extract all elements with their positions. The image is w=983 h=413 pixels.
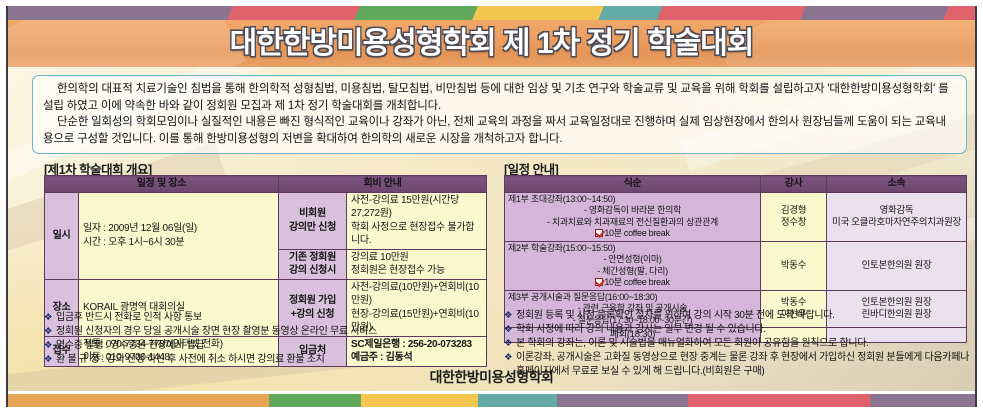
session-1-affiliation-1: 영화감독 bbox=[831, 205, 962, 217]
color-bar-segment bbox=[557, 394, 688, 407]
note-text: 환 불 규 정 : 강의 신청 하신 후 사전에 취소 하시면 강의료 환불 조… bbox=[56, 354, 325, 365]
schedule-col-header-program: 식순 bbox=[505, 176, 761, 193]
color-bar-segment bbox=[8, 394, 269, 407]
session-1-line-2: - 치과치료와 치과재료의 전신질환과의 상관관계 bbox=[508, 217, 757, 229]
diamond-bullet-icon: ❖ bbox=[44, 325, 52, 339]
schedule-col-header-affiliation: 소속 bbox=[827, 176, 967, 193]
table-row: 제1부 초대강좌(13:00~14:50) - 영화감독이 바라본 한의학 - … bbox=[505, 192, 967, 241]
checkbox-icon bbox=[595, 229, 603, 237]
session-1-speakers: 김경형 정수창 bbox=[761, 192, 827, 241]
color-bar-segment bbox=[354, 6, 485, 20]
note-text: 본 학회의 강좌는, 이론 및 시술법을 매뉴얼화하여 모든 회원이 공유함을 … bbox=[516, 338, 869, 349]
session-1-program: 제1부 초대강좌(13:00~14:50) - 영화감독이 바라본 한의학 - … bbox=[505, 192, 761, 241]
fee-label-existing-member: 기존 정회원 강의 신청시 bbox=[279, 249, 347, 279]
table-row: 제2부 학술강좌(15:00~15:50) - 안면성형(이마) - 체간성형(… bbox=[505, 241, 967, 290]
schedule-col-header-speaker: 강사 bbox=[761, 176, 827, 193]
color-bar-segment bbox=[269, 394, 360, 407]
session-2-break: 10분 coffee break bbox=[508, 277, 757, 289]
note-text: 정회원 등록 및 사전 등록확인 절차를 위하여 강의 시작 30분 전에 도착… bbox=[516, 310, 835, 321]
overview-value-datetime: 일자 : 2009년 12월 06일(일) 시간 : 오후 1시~6시 30분 bbox=[79, 192, 279, 279]
color-bar-segment bbox=[657, 6, 814, 20]
color-bar-segment bbox=[228, 6, 368, 20]
color-bar-segment bbox=[361, 394, 479, 407]
note-item: ❖본 학회의 강좌는, 이론 및 시술법을 매뉴얼화하여 모든 회원이 공유함을… bbox=[504, 337, 974, 351]
checkbox-icon bbox=[595, 278, 603, 286]
note-item: ❖영수증 발행 : 영수증은 현장에서 발급 bbox=[44, 339, 489, 353]
diamond-bullet-icon: ❖ bbox=[504, 309, 512, 323]
session-3-affiliation-1: 인토본한의원 원장 bbox=[831, 297, 962, 309]
session-2-break-label: 10분 coffee break bbox=[604, 277, 669, 287]
notes-left: ❖입금후 반드시 전화로 인적 사항 통보❖정회원 신청자의 경우 당일 공개시… bbox=[44, 311, 489, 367]
table-row: 일시 일자 : 2009년 12월 06일(일) 시간 : 오후 1시~6시 3… bbox=[45, 192, 487, 249]
fee-value-existing-l1: 강의료 10만원 bbox=[351, 251, 482, 265]
session-2-affiliations: 인토본한의원 원장 bbox=[827, 241, 967, 290]
color-bar-segment bbox=[800, 6, 948, 20]
fee-value-nonmember-l2: 학회 사정으로 현장접수 불가합니다. bbox=[351, 221, 482, 248]
fee-value-nonmember: 사전-강의료 15만원(시간당27,272원) 학회 사정으로 현장접수 불가합… bbox=[347, 192, 487, 249]
overview-col-header-fee: 회비 안내 bbox=[279, 176, 487, 193]
session-1-line-1: - 영화감독이 바라본 한의학 bbox=[508, 205, 757, 217]
diamond-bullet-icon: ❖ bbox=[504, 351, 512, 365]
overview-time-line: 시간 : 오후 1시~6시 30분 bbox=[83, 236, 274, 250]
note-text: 학회 사정에 따라 강의 내용과 강사는 일부 변경 될 수 있습니다. bbox=[516, 324, 766, 335]
session-1-break-label: 10분 coffee break bbox=[604, 228, 669, 238]
note-text: 입금후 반드시 전화로 인적 사항 통보 bbox=[56, 312, 202, 323]
fee-label-existing-l1: 기존 정회원 bbox=[283, 251, 342, 265]
table-header-row: 일정 및 장소 회비 안내 bbox=[45, 176, 487, 193]
session-1-speaker-2: 정수창 bbox=[765, 217, 822, 229]
fee-value-join-l1: 사전-강의료(10만원)+연회비(10만원) bbox=[351, 281, 482, 308]
intro-paragraph-1: 한의학의 대표적 치료기술인 침법을 통해 한의학적 성형침법, 미용침법, 탈… bbox=[43, 81, 956, 114]
session-1-speaker-1: 김경형 bbox=[765, 205, 822, 217]
fee-value-existing-member: 강의료 10만원 정회원은 현장접수 가능 bbox=[347, 249, 487, 279]
table-header-row: 식순 강사 소속 bbox=[505, 176, 967, 193]
bottom-color-bar bbox=[8, 394, 975, 407]
session-3-title: 제3부 공개시술과 질문응답(16:00~18:30) bbox=[508, 292, 757, 304]
color-bar-segment bbox=[478, 394, 556, 407]
diamond-bullet-icon: ❖ bbox=[44, 353, 52, 367]
session-1-affiliation-2: 미국 오클라호마자연주의치과원장 bbox=[831, 217, 962, 229]
intro-box: 한의학의 대표적 치료기술인 침법을 통해 한의학적 성형침법, 미용침법, 탈… bbox=[32, 75, 967, 154]
note-item: ❖환 불 규 정 : 강의 신청 하신 후 사전에 취소 하시면 강의료 환불 … bbox=[44, 353, 489, 367]
session-1-affiliations: 영화감독 미국 오클라호마자연주의치과원장 bbox=[827, 192, 967, 241]
diamond-bullet-icon: ❖ bbox=[44, 311, 52, 325]
note-item: ❖정회원 등록 및 사전 등록확인 절차를 위하여 강의 시작 30분 전에 도… bbox=[504, 309, 974, 323]
note-text: 영수증 발행 : 영수증은 현장에서 발급 bbox=[56, 340, 204, 351]
fee-label-nonmember: 비회원 강의만 신청 bbox=[279, 192, 347, 249]
session-1-break: 10분 coffee break bbox=[508, 228, 757, 240]
overview-label-datetime: 일시 bbox=[45, 192, 79, 279]
poster-root: 대한한방미용성형학회 제 1차 정기 학술대회 한의학의 대표적 치료기술인 침… bbox=[0, 0, 983, 413]
note-item: ❖정회원 신청자의 경우 당일 공개시술 장면 현장 촬영분 동영상 온라인 무… bbox=[44, 325, 489, 339]
fee-label-join-l1: 정회원 가입 bbox=[283, 294, 342, 308]
color-bar-segment bbox=[472, 6, 612, 20]
diamond-bullet-icon: ❖ bbox=[504, 323, 512, 337]
fee-value-existing-l2: 정회원은 현장접수 가능 bbox=[351, 264, 482, 278]
fee-label-nonmember-l2: 강의만 신청 bbox=[283, 221, 342, 235]
page-title: 대한한방미용성형학회 제 1차 정기 학술대회 bbox=[8, 20, 975, 67]
fee-label-nonmember-l1: 비회원 bbox=[283, 207, 342, 221]
session-2-speaker-1: 박동수 bbox=[765, 260, 822, 272]
frame-edge-right bbox=[975, 6, 977, 407]
diamond-bullet-icon: ❖ bbox=[504, 337, 512, 351]
header-band: 대한한방미용성형학회 제 1차 정기 학술대회 bbox=[8, 20, 975, 67]
session-2-line-2: - 체간성형(팔, 다리) bbox=[508, 266, 757, 278]
color-bar-segment bbox=[8, 6, 234, 20]
note-text: 정회원 신청자의 경우 당일 공개시술 장면 현장 촬영분 동영상 온라인 무료… bbox=[56, 326, 377, 337]
session-1-title: 제1부 초대강좌(13:00~14:50) bbox=[508, 194, 757, 206]
intro-paragraph-2: 단순한 일회성의 학회모임이나 실질적인 내용은 빠진 형식적인 교육이나 강좌… bbox=[43, 114, 956, 147]
color-bar-segment bbox=[870, 394, 975, 407]
diamond-bullet-icon: ❖ bbox=[44, 339, 52, 353]
top-color-bar bbox=[8, 6, 975, 20]
note-item: ❖입금후 반드시 전화로 인적 사항 통보 bbox=[44, 311, 489, 325]
fee-label-existing-l2: 강의 신청시 bbox=[283, 264, 342, 278]
color-bar-segment bbox=[688, 394, 871, 407]
body-background: 한의학의 대표적 치료기술인 침법을 통해 한의학적 성형침법, 미용침법, 탈… bbox=[8, 67, 975, 391]
session-2-line-1: - 안면성형(이마) bbox=[508, 254, 757, 266]
session-2-title: 제2부 학술강좌(15:00~15:50) bbox=[508, 243, 757, 255]
note-item: ❖학회 사정에 따라 강의 내용과 강사는 일부 변경 될 수 있습니다. bbox=[504, 323, 974, 337]
session-2-speakers: 박동수 bbox=[761, 241, 827, 290]
overview-date-line: 일자 : 2009년 12월 06일(일) bbox=[83, 222, 274, 236]
session-2-program: 제2부 학술강좌(15:00~15:50) - 안면성형(이마) - 체간성형(… bbox=[505, 241, 761, 290]
overview-col-header-schedule: 일정 및 장소 bbox=[45, 176, 279, 193]
footer-title: 대한한방미용성형학회 bbox=[8, 367, 975, 387]
session-2-affiliation-1: 인토본한의원 원장 bbox=[831, 260, 962, 272]
fee-value-nonmember-l1: 사전-강의료 15만원(시간당27,272원) bbox=[351, 194, 482, 221]
session-3-speaker-1: 박동수 bbox=[765, 297, 822, 309]
